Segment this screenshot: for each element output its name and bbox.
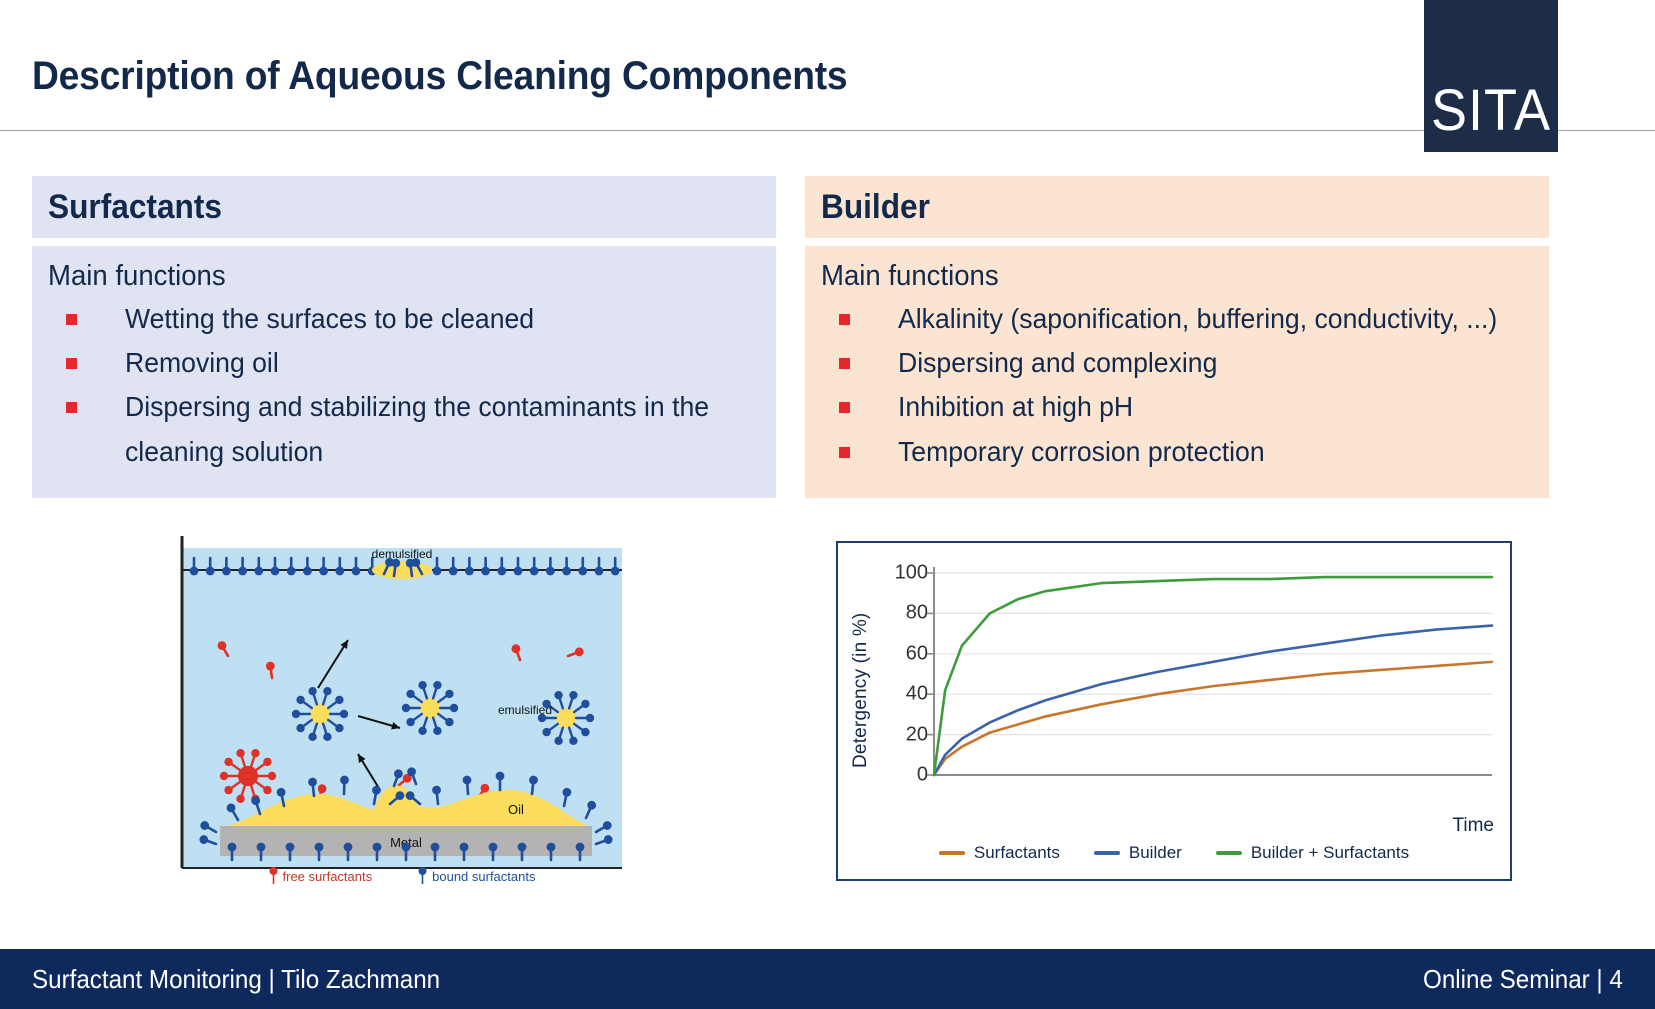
surfactant-mechanism-figure: demulsifiedemulsifiedMetalOil bbox=[168, 528, 636, 888]
detergency-chart: Detergency (in %) 020406080100 Time Surf… bbox=[836, 541, 1512, 881]
legend-swatch-icon bbox=[1216, 851, 1242, 855]
column-surfactants: Surfactants Main functions Wetting the s… bbox=[32, 176, 776, 498]
list-item-label: Dispersing and complexing bbox=[898, 341, 1217, 385]
surfactants-body: Main functions Wetting the surfaces to b… bbox=[32, 246, 776, 498]
figure-caption: free surfactants bound surfactants bbox=[168, 862, 636, 890]
footer-left: Surfactant Monitoring | Tilo Zachmann bbox=[32, 964, 471, 995]
legend-bound-surfactants: bound surfactants bbox=[418, 867, 535, 885]
square-bullet-icon bbox=[839, 447, 850, 458]
legend-item: Builder + Surfactants bbox=[1216, 843, 1409, 863]
slide-footer: Surfactant Monitoring | Tilo Zachmann On… bbox=[0, 949, 1655, 1009]
list-item-label: Wetting the surfaces to be cleaned bbox=[125, 297, 534, 341]
surfactants-bullet-list: Wetting the surfaces to be cleaned Remov… bbox=[48, 297, 760, 474]
builder-subheading: Main functions bbox=[821, 260, 1497, 293]
list-item: Wetting the surfaces to be cleaned bbox=[48, 297, 760, 341]
svg-text:Oil: Oil bbox=[508, 802, 524, 817]
surfactants-subheading: Main functions bbox=[48, 260, 724, 293]
svg-text:emulsified: emulsified bbox=[498, 703, 552, 717]
sita-logo-text: SITA bbox=[1431, 81, 1551, 154]
square-bullet-icon bbox=[66, 314, 77, 325]
list-item-label: Alkalinity (saponification, buffering, c… bbox=[898, 297, 1497, 341]
legend-label: Surfactants bbox=[974, 843, 1060, 863]
surfactant-diagram-svg: demulsifiedemulsifiedMetalOil bbox=[168, 528, 636, 888]
legend-swatch-icon bbox=[1094, 851, 1120, 855]
square-bullet-icon bbox=[839, 402, 850, 413]
list-item-label: Dispersing and stabilizing the contamina… bbox=[125, 385, 728, 473]
legend-free-surfactants: free surfactants bbox=[269, 867, 373, 885]
svg-text:demulsified: demulsified bbox=[372, 547, 433, 561]
legend-label: Builder bbox=[1129, 843, 1182, 863]
chart-x-axis-label: Time bbox=[1452, 815, 1494, 837]
legend-bound-label: bound surfactants bbox=[432, 869, 535, 884]
legend-swatch-icon bbox=[939, 851, 965, 855]
builder-header-title: Builder bbox=[821, 188, 930, 227]
builder-body: Main functions Alkalinity (saponificatio… bbox=[805, 246, 1549, 498]
chart-legend: SurfactantsBuilderBuilder + Surfactants bbox=[838, 843, 1510, 863]
chart-inner: Detergency (in %) 020406080100 Time Surf… bbox=[838, 543, 1510, 879]
builder-bullet-list: Alkalinity (saponification, buffering, c… bbox=[821, 297, 1533, 474]
square-bullet-icon bbox=[839, 358, 850, 369]
free-surfactant-icon bbox=[269, 867, 278, 885]
chart-plot-svg bbox=[838, 543, 1514, 883]
list-item-label: Temporary corrosion protection bbox=[898, 430, 1265, 474]
builder-header: Builder bbox=[805, 176, 1549, 238]
footer-right: Online Seminar | 4 bbox=[1408, 964, 1623, 995]
sita-logo: SITA bbox=[1424, 0, 1558, 152]
surfactants-header: Surfactants bbox=[32, 176, 776, 238]
list-item: Inhibition at high pH bbox=[821, 385, 1533, 429]
footer-right-label: Online Seminar | 4 bbox=[1423, 964, 1623, 995]
square-bullet-icon bbox=[66, 358, 77, 369]
page-title: Description of Aqueous Cleaning Componen… bbox=[32, 54, 847, 99]
slide-root: Description of Aqueous Cleaning Componen… bbox=[0, 0, 1655, 1009]
list-item-label: Inhibition at high pH bbox=[898, 385, 1133, 429]
list-item: Dispersing and complexing bbox=[821, 341, 1533, 385]
square-bullet-icon bbox=[66, 402, 77, 413]
list-item: Temporary corrosion protection bbox=[821, 430, 1533, 474]
surfactants-header-title: Surfactants bbox=[48, 188, 222, 227]
legend-free-label: free surfactants bbox=[283, 869, 373, 884]
title-divider bbox=[0, 130, 1655, 131]
square-bullet-icon bbox=[839, 314, 850, 325]
bound-surfactant-icon bbox=[418, 867, 427, 885]
list-item: Dispersing and stabilizing the contamina… bbox=[48, 385, 760, 473]
footer-left-label: Surfactant Monitoring | Tilo Zachmann bbox=[32, 964, 440, 995]
list-item: Alkalinity (saponification, buffering, c… bbox=[821, 297, 1533, 341]
column-builder: Builder Main functions Alkalinity (sapon… bbox=[805, 176, 1549, 498]
legend-label: Builder + Surfactants bbox=[1251, 843, 1409, 863]
legend-item: Builder bbox=[1094, 843, 1182, 863]
list-item: Removing oil bbox=[48, 341, 760, 385]
legend-item: Surfactants bbox=[939, 843, 1060, 863]
list-item-label: Removing oil bbox=[125, 341, 279, 385]
